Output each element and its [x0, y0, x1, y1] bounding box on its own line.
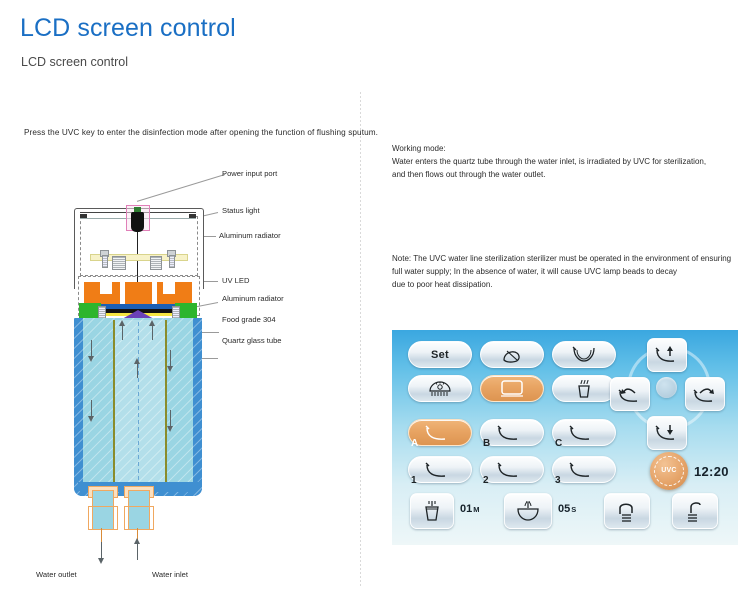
dental-light-icon [501, 346, 523, 363]
screw-left [100, 250, 107, 266]
dpad-center-button[interactable] [656, 377, 677, 398]
dental-light-button[interactable] [480, 341, 544, 368]
uvc-label: UVC [661, 467, 676, 474]
note-line-2: full water supply; In the absence of wat… [392, 265, 677, 279]
chair-up-icon [654, 345, 680, 365]
preset-a-label: A [411, 438, 419, 449]
quartz-center-axis [138, 322, 139, 482]
cup-fill-value: 01M [460, 503, 480, 515]
radiator-fin-1 [120, 282, 125, 304]
working-mode-heading: Working mode: [392, 142, 446, 156]
label-quartz-glass-tube: Quartz glass tube [222, 336, 282, 345]
label-aluminum-radiator-top: Aluminum radiator [219, 231, 281, 240]
clock-display: 12:20 [694, 464, 729, 479]
chair-rotate-right-icon [692, 384, 718, 404]
chair-preset-b-icon: B [495, 423, 529, 442]
chair-up-button[interactable] [647, 338, 687, 372]
chair-preset-2-icon: 2 [495, 460, 529, 479]
leader-power-input [137, 174, 225, 202]
cup-fill-button[interactable] [410, 493, 454, 529]
page-title: LCD screen control [20, 14, 236, 43]
preset-1-label: 1 [411, 475, 417, 486]
uvc-button[interactable]: UVC [650, 452, 688, 490]
set-button-label: Set [431, 349, 449, 361]
page-root: LCD screen control LCD screen control Pr… [0, 0, 750, 606]
preset-3-label: 3 [555, 475, 561, 486]
faucet-left-icon [616, 500, 638, 522]
bowl-rinse-icon [514, 500, 542, 522]
working-mode-line-2: and then flows out through the water out… [392, 168, 545, 182]
quartz-glass-tube [113, 320, 167, 485]
sterilizer-cross-section-diagram: Power input port Status light Aluminum r… [0, 150, 358, 590]
chair-back-button[interactable] [552, 341, 616, 368]
faucet-left-button[interactable] [604, 493, 650, 529]
spray-icon [427, 380, 453, 398]
faucet-right-icon [684, 500, 706, 522]
label-aluminum-radiator-bottom: Aluminum radiator [222, 294, 284, 303]
preset-2-label: 2 [483, 475, 489, 486]
cup-fill-icon [422, 500, 442, 522]
column-divider [360, 92, 361, 587]
cup-steam-button[interactable] [552, 375, 616, 402]
radiator-notch-right [163, 282, 175, 294]
spray-button[interactable] [408, 375, 472, 402]
chair-rotate-left-icon [617, 384, 643, 404]
chair-preset-a-icon: A [423, 423, 457, 442]
preset-c-label: C [555, 438, 563, 449]
bowl-rinse-number: 05 [558, 503, 570, 515]
cup-fill-number: 01 [460, 503, 472, 515]
chair-preset-3-icon: 3 [567, 460, 601, 479]
chair-rotate-right-button[interactable] [685, 377, 725, 411]
preset-c-button[interactable]: C [552, 419, 616, 446]
label-food-grade-304: Food grade 304 [222, 315, 276, 324]
chair-preset-1-icon: 1 [423, 460, 457, 479]
screw-mid-right [150, 256, 162, 270]
faucet-right-button[interactable] [672, 493, 718, 529]
preset-2-button[interactable]: 2 [480, 456, 544, 483]
lcd-control-panel: Set [392, 330, 738, 545]
uvc-instruction-text: Press the UVC key to enter the disinfect… [24, 128, 378, 137]
chair-down-icon [654, 423, 680, 443]
preset-a-button[interactable]: A [408, 419, 472, 446]
screen-icon [499, 379, 525, 398]
outlet-stem [101, 528, 102, 542]
radiator-fin-2 [152, 282, 157, 304]
bowl-rinse-value: 05S [558, 503, 576, 515]
bowl-rinse-button[interactable] [504, 493, 552, 529]
label-water-inlet: Water inlet [152, 570, 188, 579]
chair-preset-c-icon: C [567, 423, 601, 442]
set-button[interactable]: Set [408, 341, 472, 368]
chair-down-button[interactable] [647, 416, 687, 450]
screen-button[interactable] [480, 375, 544, 402]
chair-back-icon [571, 346, 597, 363]
label-water-outlet: Water outlet [36, 570, 77, 579]
working-mode-line-1: Water enters the quartz tube through the… [392, 155, 706, 169]
label-uv-led: UV LED [222, 276, 249, 285]
preset-3-button[interactable]: 3 [552, 456, 616, 483]
leader-alu-radiator-1 [202, 236, 216, 237]
cup-steam-icon [574, 379, 594, 399]
note-line-1: Note: The UVC water line sterilization s… [392, 252, 731, 266]
uvc-inner-ring: UVC [654, 456, 684, 486]
page-subtitle: LCD screen control [21, 55, 128, 69]
note-line-3: due to poor heat dissipation. [392, 278, 493, 292]
preset-1-button[interactable]: 1 [408, 456, 472, 483]
preset-b-button[interactable]: B [480, 419, 544, 446]
chair-rotate-left-button[interactable] [610, 377, 650, 411]
outlet-collar [88, 506, 118, 530]
preset-b-label: B [483, 438, 491, 449]
power-connector [131, 212, 144, 232]
bowl-rinse-unit: S [571, 505, 576, 514]
screw-mid-left [112, 256, 126, 270]
screw-right [167, 250, 174, 266]
radiator-notch-left [100, 282, 112, 294]
cup-fill-unit: M [473, 505, 479, 514]
label-status-light: Status light [222, 206, 260, 215]
label-power-input-port: Power input port [222, 169, 277, 178]
inlet-collar [124, 506, 154, 530]
